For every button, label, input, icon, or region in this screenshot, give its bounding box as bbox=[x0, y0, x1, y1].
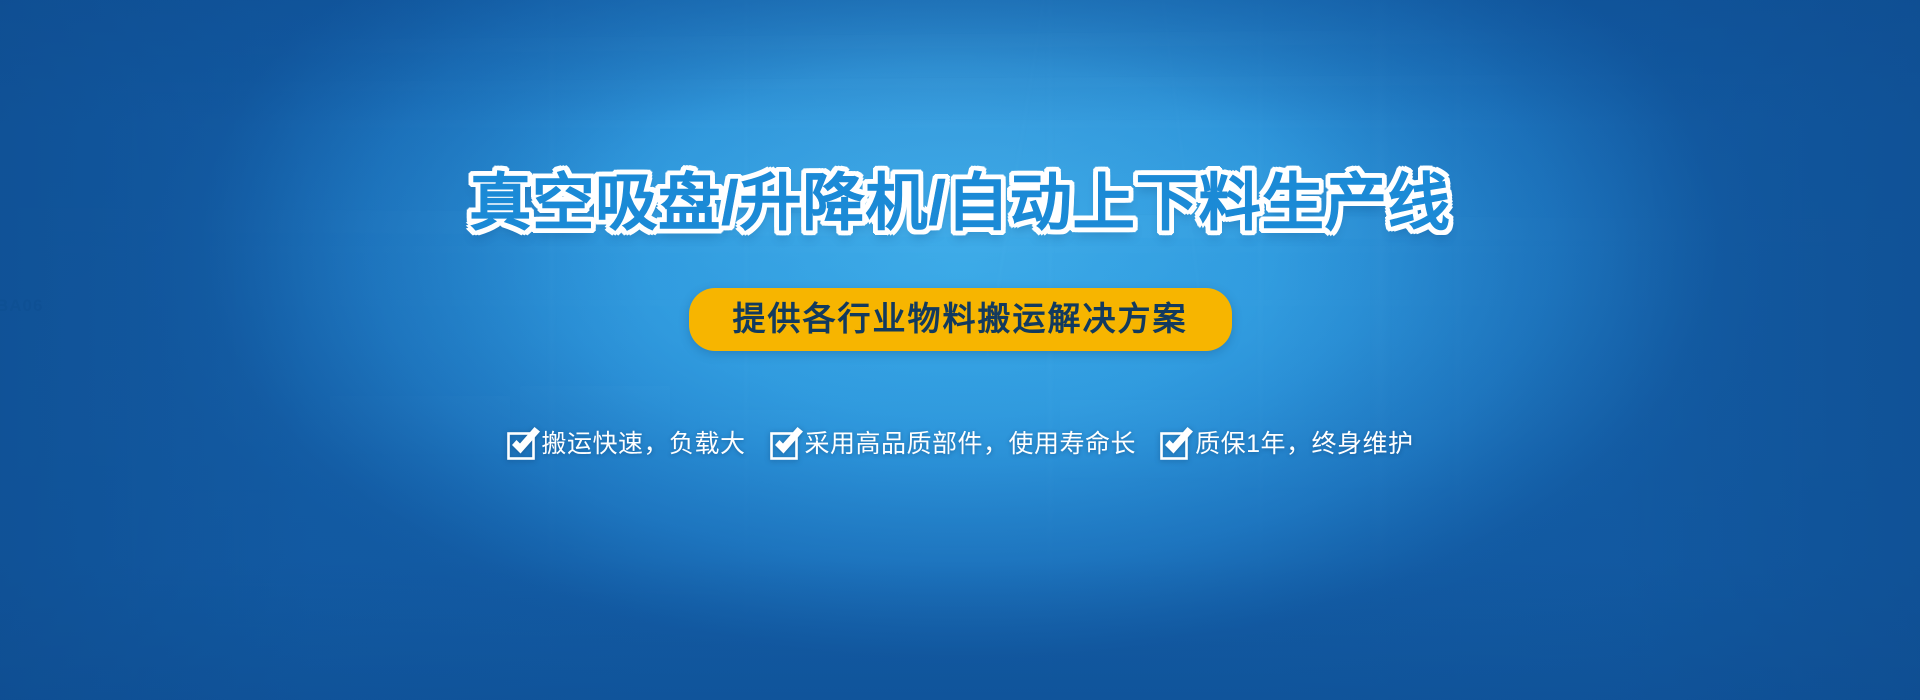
feature-list: 搬运快速，负载大 采用高品质部件，使用寿命长 bbox=[0, 424, 1920, 460]
subtitle-pill-container: 提供各行业物料搬运解决方案 bbox=[0, 288, 1920, 351]
feature-item: 采用高品质部件，使用寿命长 bbox=[770, 424, 1137, 460]
feature-item: 质保1年，终身维护 bbox=[1160, 424, 1413, 460]
feature-label: 采用高品质部件，使用寿命长 bbox=[805, 424, 1137, 460]
checkbox-checked-icon bbox=[770, 429, 796, 455]
checkbox-checked-icon bbox=[1160, 429, 1186, 455]
feature-label: 搬运快速，负载大 bbox=[542, 424, 746, 460]
feature-label: 质保1年，终身维护 bbox=[1195, 424, 1413, 460]
banner-content: 真空吸盘/升降机/自动上下料生产线 提供各行业物料搬运解决方案 搬运快速，负载大 bbox=[0, 0, 1920, 700]
banner-headline: 真空吸盘/升降机/自动上下料生产线 bbox=[0, 168, 1920, 239]
subtitle-pill: 提供各行业物料搬运解决方案 bbox=[689, 288, 1232, 351]
promo-banner: BA06 真空吸盘/升降机/自动上下料生产线 提供各行业物料搬运解决方案 搬运快… bbox=[0, 0, 1920, 700]
feature-item: 搬运快速，负载大 bbox=[507, 424, 746, 460]
checkbox-checked-icon bbox=[507, 429, 533, 455]
